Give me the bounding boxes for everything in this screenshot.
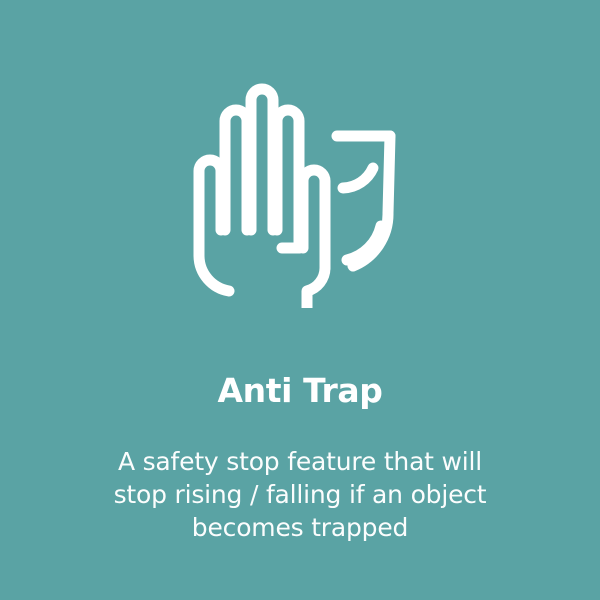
anti-trap-feature-card: Anti Trap A safety stop feature that wil… [0,0,600,600]
description-block: A safety stop feature that will stop ris… [0,445,600,544]
title-block: Anti Trap [0,372,600,410]
hand-index-finger [277,110,299,248]
hand-thumb [303,170,325,268]
hand-stop-blind-icon [185,78,415,308]
page-title: Anti Trap [0,372,600,410]
hand-ring-finger [225,110,247,230]
feature-icon [0,78,600,308]
description-line-2: stop rising / falling if an object [52,478,548,511]
blind-slat-upper [343,168,373,188]
hand-middle-finger [251,89,273,230]
hand-wrist [307,268,325,308]
description-line-3: becomes trapped [52,511,548,544]
description-line-1: A safety stop feature that will [52,445,548,478]
